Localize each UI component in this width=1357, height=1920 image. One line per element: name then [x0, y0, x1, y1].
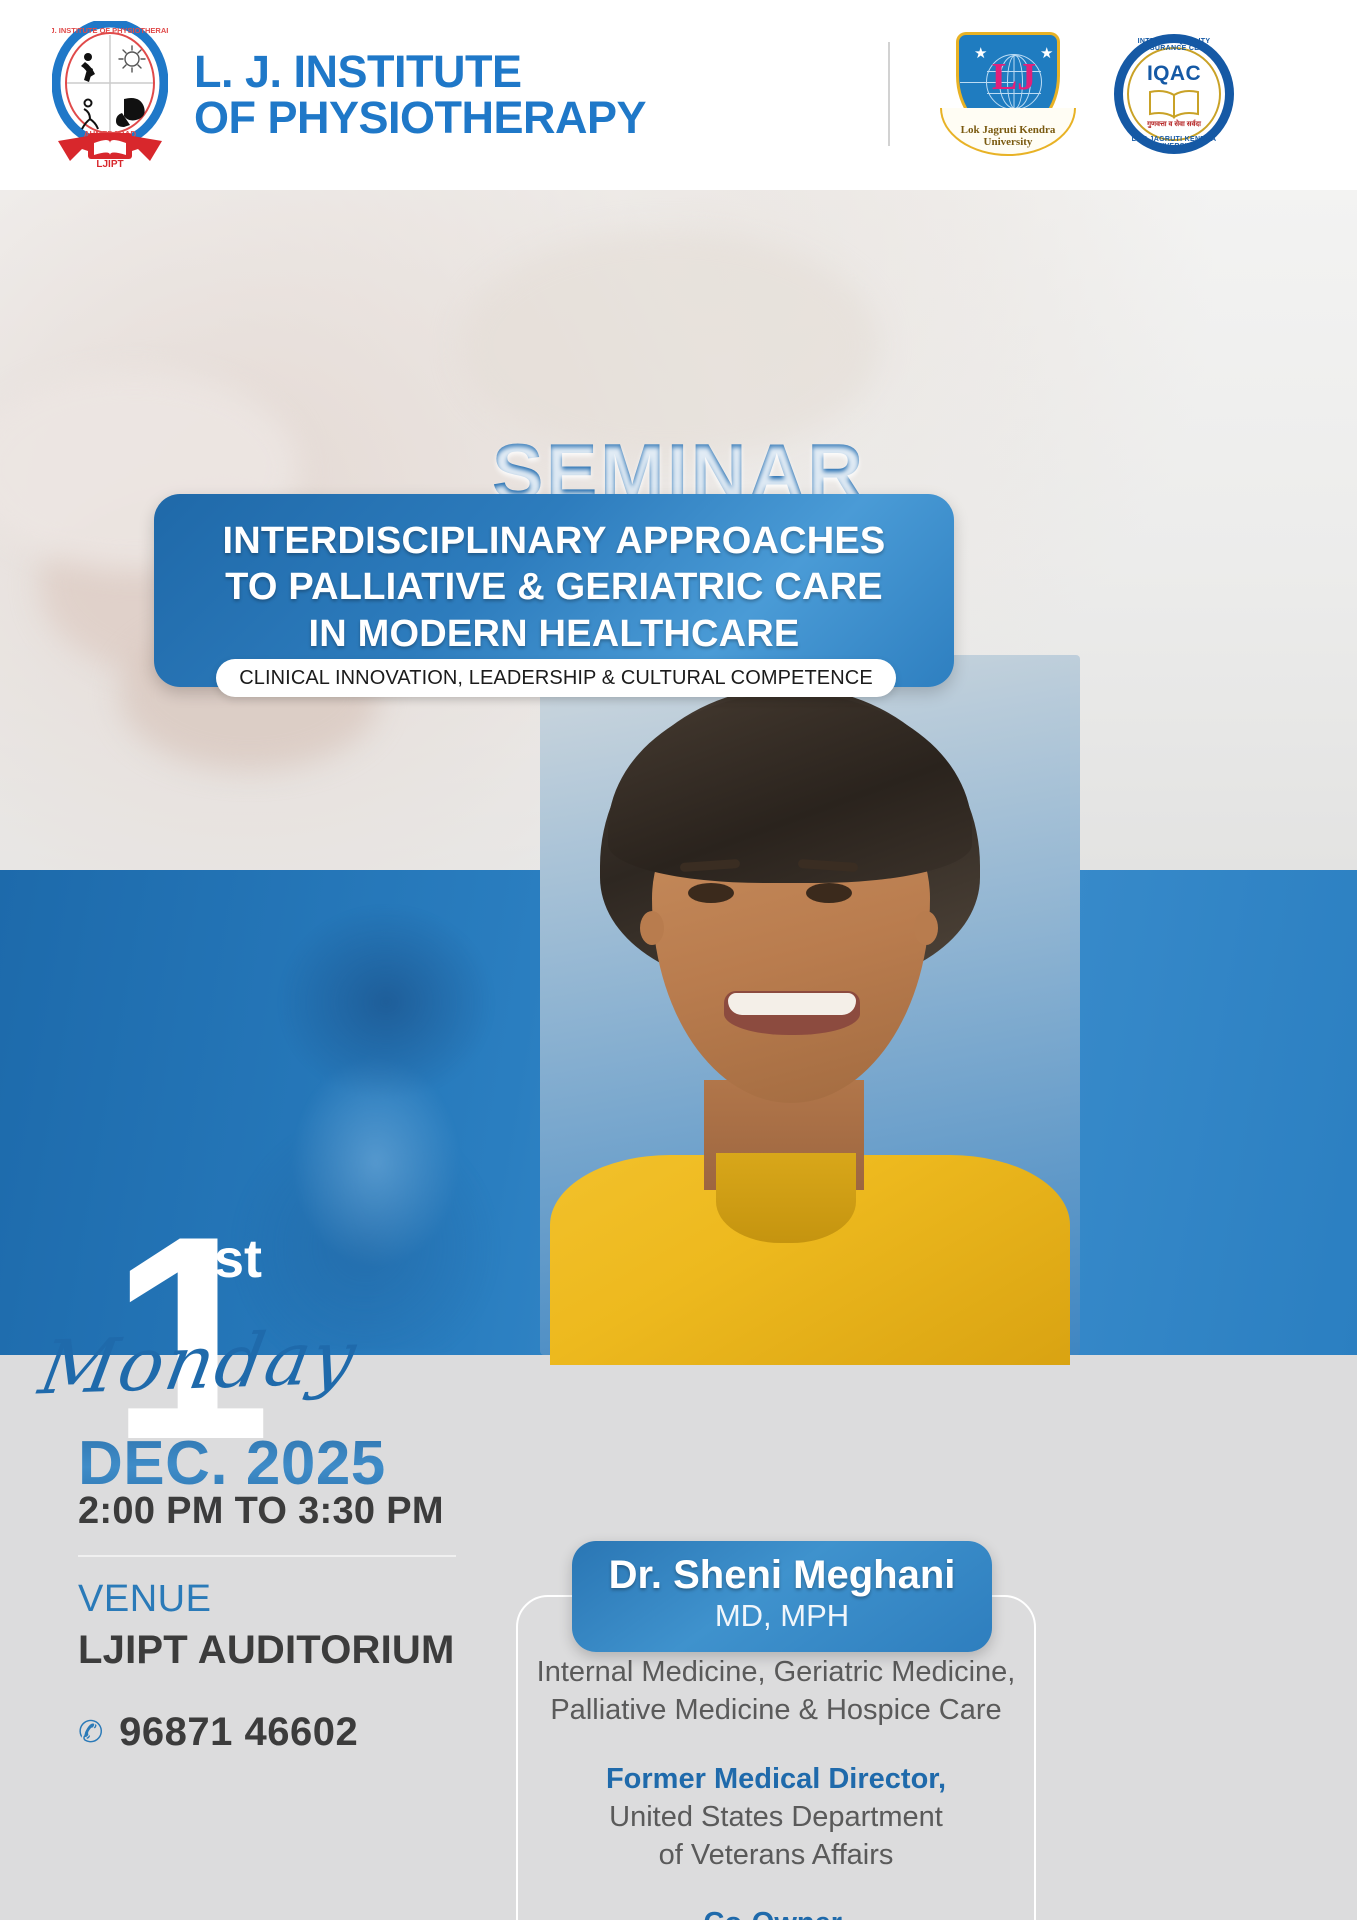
svg-text:L.J. INSTITUTE OF PHYSIOTHERAP: L.J. INSTITUTE OF PHYSIOTHERAPY — [52, 26, 168, 35]
event-time: 2:00 PM TO 3:30 PM — [78, 1490, 444, 1533]
date-month-year: DEC. 2025 — [78, 1428, 386, 1499]
date-ordinal-suffix: st — [214, 1228, 262, 1290]
phone-icon: ✆ — [76, 1713, 106, 1751]
speaker-credentials: Internal Medicine, Geriatric Medicine, P… — [516, 1653, 1036, 1920]
title-line-2: TO PALLIATIVE & GERIATRIC CARE — [188, 564, 920, 610]
contact-phone: 96871 46602 — [119, 1710, 358, 1755]
venue-label: VENUE — [78, 1578, 211, 1621]
header-right-logos: LJ ★ ★ ★ ★ ★ Lok Jagruti Kendra Universi… — [940, 28, 1234, 160]
star-icon: ★ — [1040, 44, 1053, 62]
speaker-specialties-line2: Palliative Medicine & Hospice Care — [516, 1691, 1036, 1729]
speaker-role1-title: Former Medical Director, — [516, 1760, 1036, 1798]
venue-value: LJIPT AUDITORIUM — [78, 1628, 455, 1673]
divider-line — [78, 1555, 456, 1557]
page-header: L.J. INSTITUTE OF PHYSIOTHERAPY AHMEDABA… — [0, 0, 1357, 190]
date-weekday: Monday — [33, 1315, 364, 1412]
seminar-subtitle: CLINICAL INNOVATION, LEADERSHIP & CULTUR… — [239, 667, 873, 690]
speaker-degrees: MD, MPH — [598, 1597, 966, 1636]
iqac-top-text: INTERNAL QUALITY ASSURANCE CELL — [1114, 38, 1234, 52]
svg-text:LJIPT: LJIPT — [96, 159, 123, 169]
open-book-icon — [1148, 89, 1200, 119]
star-icon: ★ — [974, 44, 987, 62]
speaker-name: Dr. Sheni Meghani — [598, 1553, 966, 1597]
iqac-logo: INTERNAL QUALITY ASSURANCE CELL IQAC गुण… — [1114, 34, 1234, 154]
speaker-role1-org-line1: United States Department — [516, 1798, 1036, 1836]
contact-row: ✆ 96871 46602 — [78, 1710, 358, 1755]
title-line-3: IN MODERN HEALTHCARE — [188, 611, 920, 657]
header-divider — [888, 42, 890, 146]
institute-name-line1: L. J. INSTITUTE — [194, 49, 646, 95]
iqac-title: IQAC — [1114, 62, 1234, 86]
seminar-subtitle-pill: CLINICAL INNOVATION, LEADERSHIP & CULTUR… — [216, 659, 896, 697]
speaker-name-plate: Dr. Sheni Meghani MD, MPH — [572, 1541, 992, 1652]
iqac-bottom-text: LOK JAGRUTI KENDRA UNIVERSITY — [1114, 136, 1234, 150]
ljipt-crest-logo: L.J. INSTITUTE OF PHYSIOTHERAPY AHMEDABA… — [52, 21, 168, 169]
institute-name: L. J. INSTITUTE OF PHYSIOTHERAPY — [194, 49, 646, 141]
speaker-role2-title: Co-Owner, — [516, 1904, 1036, 1920]
speaker-specialties-line1: Internal Medicine, Geriatric Medicine, — [516, 1653, 1036, 1691]
poster-body: SEMINAR SEMINAR INTERDISCIPLINARY APPROA… — [0, 190, 1357, 1920]
institute-name-line2: OF PHYSIOTHERAPY — [194, 95, 646, 141]
lj-monogram: LJ — [990, 58, 1038, 96]
iqac-sanskrit-motto: गुणवत्ता व सेवा सर्वदा — [1114, 120, 1234, 129]
lj-ribbon-text: Lok Jagruti Kendra University — [940, 124, 1076, 148]
speaker-role1-org-line2: of Veterans Affairs — [516, 1836, 1036, 1874]
lj-university-logo: LJ ★ ★ ★ ★ ★ Lok Jagruti Kendra Universi… — [940, 28, 1076, 160]
header-left-group: L.J. INSTITUTE OF PHYSIOTHERAPY AHMEDABA… — [0, 21, 646, 169]
title-line-1: INTERDISCIPLINARY APPROACHES — [188, 518, 920, 564]
